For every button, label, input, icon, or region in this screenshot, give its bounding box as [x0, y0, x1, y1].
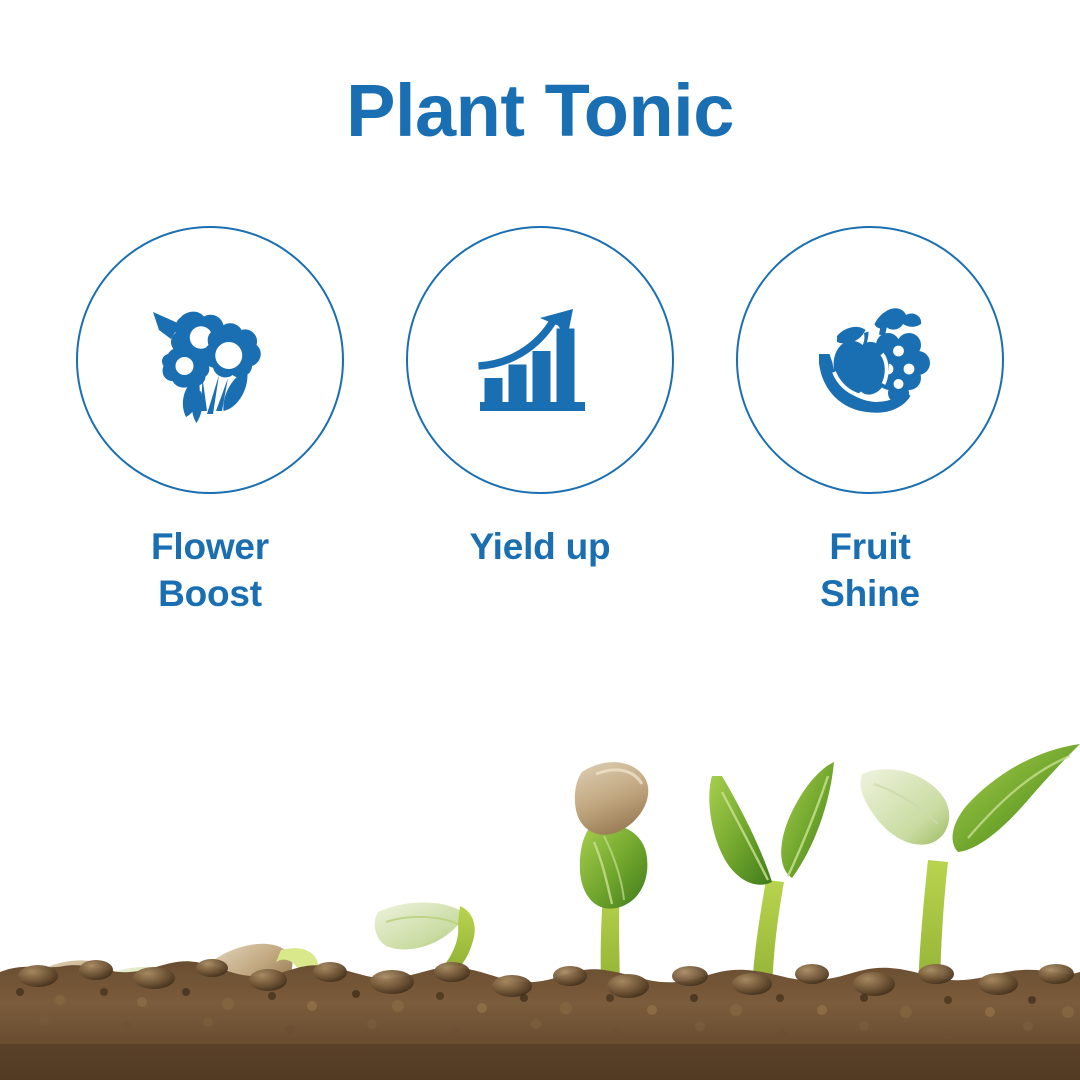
fruit-basket-icon [795, 285, 945, 435]
feature-icon-circle [736, 226, 1004, 494]
feature-icon-circle [406, 226, 674, 494]
page-title: Plant Tonic [0, 74, 1080, 148]
feature-label: Fruit Shine [820, 524, 920, 617]
feature-flower-boost[interactable]: Flower Boost [45, 226, 375, 617]
feature-yield-up[interactable]: Yield up [375, 226, 705, 571]
feature-label: Yield up [470, 524, 611, 571]
flower-bouquet-icon [135, 285, 285, 435]
feature-icon-circle [76, 226, 344, 494]
poster-canvas: Plant Tonic [0, 0, 1080, 1080]
seed-germination-stages-photo [0, 700, 1080, 1080]
growth-chart-arrow-icon [465, 285, 615, 435]
feature-label: Flower Boost [151, 524, 269, 617]
feature-fruit-shine[interactable]: Fruit Shine [705, 226, 1035, 617]
feature-row: Flower Boost [0, 226, 1080, 617]
